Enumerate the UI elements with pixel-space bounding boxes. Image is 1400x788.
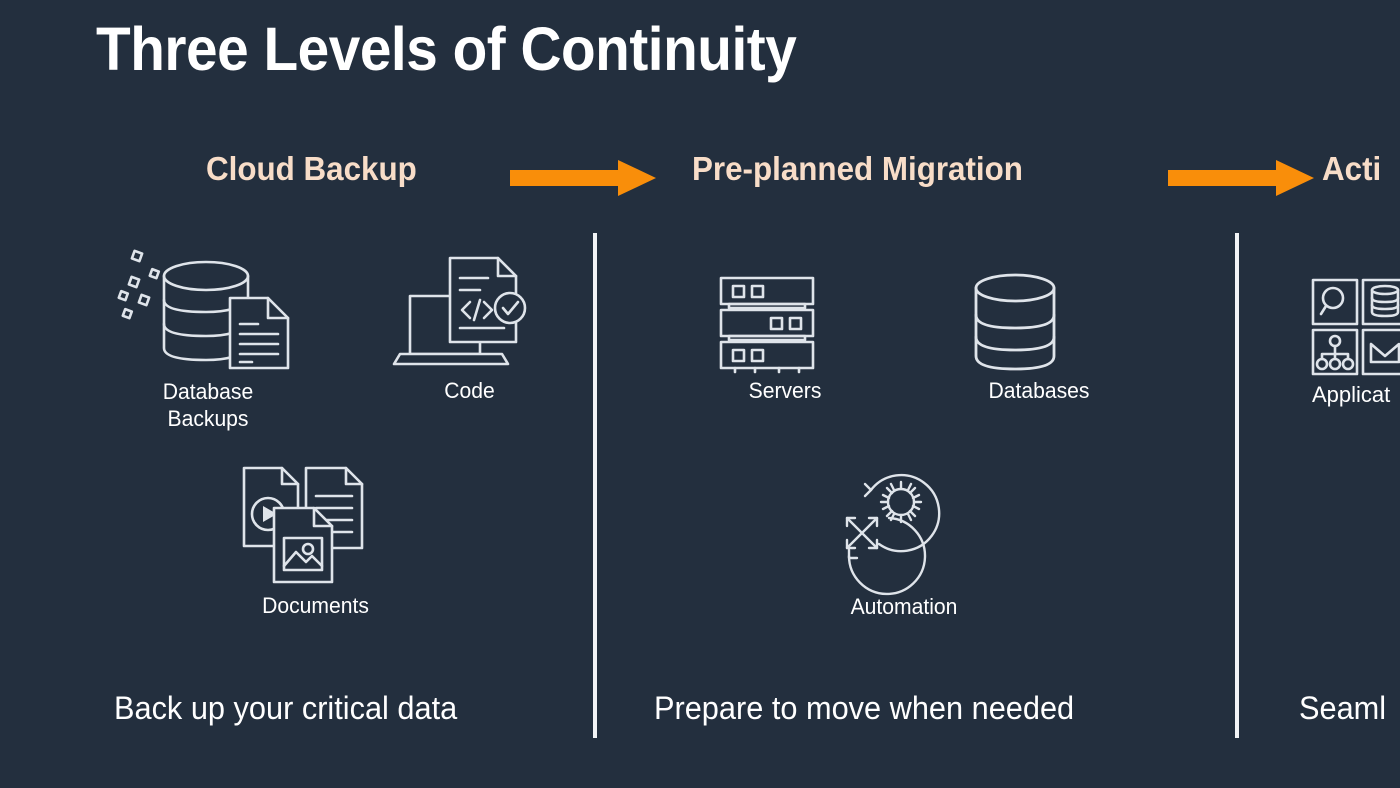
item-applications: Applicat	[1311, 278, 1400, 409]
column-active-replication: Applicat	[1239, 0, 1400, 788]
item-label: Applicat	[1312, 382, 1400, 409]
caption-cloud-backup: Back up your critical data	[114, 690, 457, 727]
item-documents: Documents	[238, 462, 393, 620]
column-cloud-backup: Database Backups Code	[0, 0, 593, 788]
item-servers: Servers	[715, 274, 855, 405]
item-label: Documents	[241, 593, 390, 620]
database-document-icon	[118, 248, 298, 373]
item-label: Code	[395, 378, 544, 405]
item-code: Code	[392, 252, 547, 405]
item-label: Automation	[822, 594, 985, 621]
database-cylinder-icon	[969, 272, 1109, 372]
applications-grid-icon	[1311, 278, 1400, 376]
caption-active-replication: Seaml	[1299, 690, 1386, 727]
item-label: Database Backups	[122, 379, 295, 433]
caption-pre-planned-migration: Prepare to move when needed	[654, 690, 1074, 727]
column-pre-planned-migration: Servers Databases	[597, 0, 1235, 788]
automation-gear-loop-icon	[819, 460, 989, 588]
laptop-code-document-icon	[392, 252, 547, 372]
item-label: Servers	[718, 378, 852, 405]
item-label: Databases	[972, 378, 1106, 405]
server-rack-icon	[715, 274, 855, 372]
documents-media-icon	[238, 462, 393, 587]
item-databases: Databases	[969, 272, 1109, 405]
item-database-backups: Database Backups	[118, 248, 298, 433]
item-automation: Automation	[819, 460, 989, 621]
